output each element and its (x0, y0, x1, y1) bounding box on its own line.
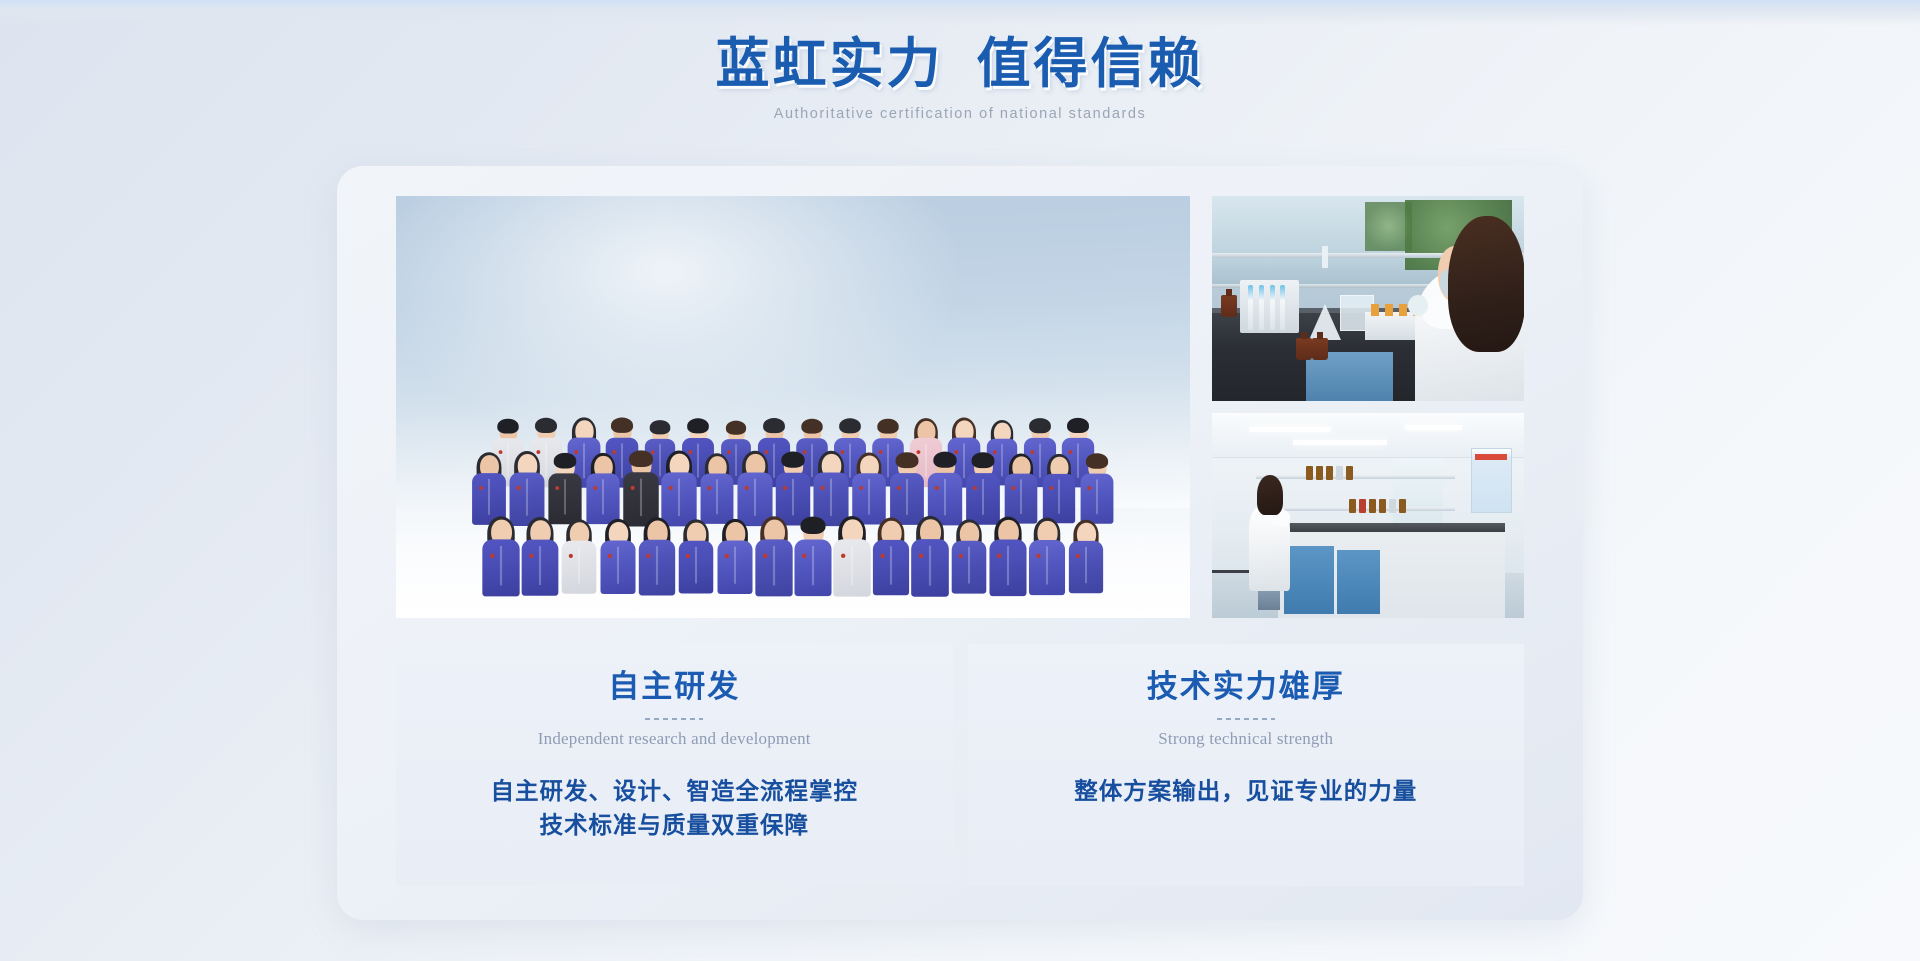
team-member-figure (1027, 521, 1065, 595)
info-card-technical-strength[interactable]: 技术实力雄厚 Strong technical strength 整体方案输出，… (968, 644, 1525, 886)
team-member-figure (716, 522, 753, 594)
lab2-window (1393, 458, 1443, 524)
team-member-figure (736, 454, 773, 526)
ceiling-light-icon (1293, 440, 1387, 445)
lab2-blue-cabinet (1337, 550, 1381, 614)
ceiling-light-icon (1249, 427, 1330, 432)
team-member-figure (754, 519, 794, 596)
team-member-figure (599, 522, 636, 594)
team-photo[interactable] (396, 196, 1190, 618)
team-member-figure (481, 519, 521, 596)
lab1-technician (1405, 212, 1524, 401)
reagent-bottle-icon (1312, 338, 1328, 360)
team-member-figure (622, 454, 660, 527)
team-member-figure (988, 520, 1027, 596)
team-member-figure (637, 520, 676, 595)
team-member-figure (927, 455, 963, 526)
glove-icon (1408, 295, 1428, 316)
info-card-independent-rd[interactable]: 自主研发 Independent research and developmen… (396, 644, 953, 886)
lab2-blue-cabinet (1284, 546, 1334, 614)
team-member-figure (1042, 457, 1076, 524)
technician-hair (1448, 216, 1524, 352)
team-member-figure (793, 520, 832, 596)
team-member-figure (1067, 522, 1103, 593)
card-title: 技术实力雄厚 (1147, 668, 1345, 707)
lab2-island-worktop (1278, 523, 1506, 532)
ceiling-light-icon (1405, 425, 1461, 430)
lab2-technician (1249, 475, 1290, 610)
reagent-bottles-icon (1349, 497, 1406, 513)
team-member-figure (965, 455, 1001, 525)
team-member-figure (700, 456, 735, 524)
team-member-figure (520, 520, 559, 596)
info-cards: 自主研发 Independent research and developmen… (396, 644, 1524, 886)
team-member-figure (775, 455, 812, 526)
page-subtitle: Authoritative certification of national … (0, 106, 1920, 122)
volumetric-flask-icon (1309, 304, 1341, 340)
content-panel: 自主研发 Independent research and developmen… (337, 166, 1583, 920)
team-member-figure (660, 454, 697, 527)
team-member-figure (1004, 457, 1039, 524)
card-body-text: 整体方案输出，见证专业的力量 (1074, 775, 1417, 809)
technician-hair (1257, 475, 1283, 516)
team-photo-people (396, 196, 1190, 618)
safety-notice-poster (1471, 448, 1512, 514)
card-subtitle: Independent research and development (538, 729, 811, 749)
team-photo-row (396, 455, 1190, 525)
team-member-figure (471, 455, 507, 525)
team-member-figure (585, 456, 620, 524)
team-member-figure (560, 522, 597, 593)
team-member-figure (812, 454, 849, 526)
team-member-figure (832, 519, 872, 596)
page-header: 蓝虹实力 值得信赖 Authoritative certification of… (0, 0, 1920, 122)
card-subtitle: Strong technical strength (1158, 729, 1333, 749)
lab-photo-interior[interactable] (1212, 413, 1524, 618)
dashed-divider-icon (645, 718, 703, 720)
dashed-divider-icon (1217, 718, 1275, 720)
team-member-figure (547, 456, 582, 524)
card-title: 自主研发 (608, 668, 740, 707)
team-member-figure (851, 456, 886, 525)
team-photo-row (396, 523, 1190, 593)
lab-photo-technician[interactable] (1212, 196, 1524, 401)
team-member-figure (889, 455, 925, 525)
reagent-bottle-icon (1221, 295, 1237, 317)
team-member-figure (950, 522, 987, 593)
team-member-figure (677, 522, 714, 593)
pipette-rack-icon (1240, 280, 1299, 333)
page-title: 蓝虹实力 值得信赖 (0, 32, 1920, 98)
photo-gallery (396, 196, 1524, 618)
team-member-figure (871, 520, 909, 595)
reagent-bottle-icon (1296, 338, 1312, 360)
team-member-figure (1080, 456, 1115, 524)
team-member-figure (910, 519, 950, 597)
team-member-figure (509, 454, 546, 526)
reagent-bottles-icon (1306, 464, 1353, 480)
card-body-text: 自主研发、设计、智造全流程掌控 技术标准与质量双重保障 (491, 775, 859, 844)
